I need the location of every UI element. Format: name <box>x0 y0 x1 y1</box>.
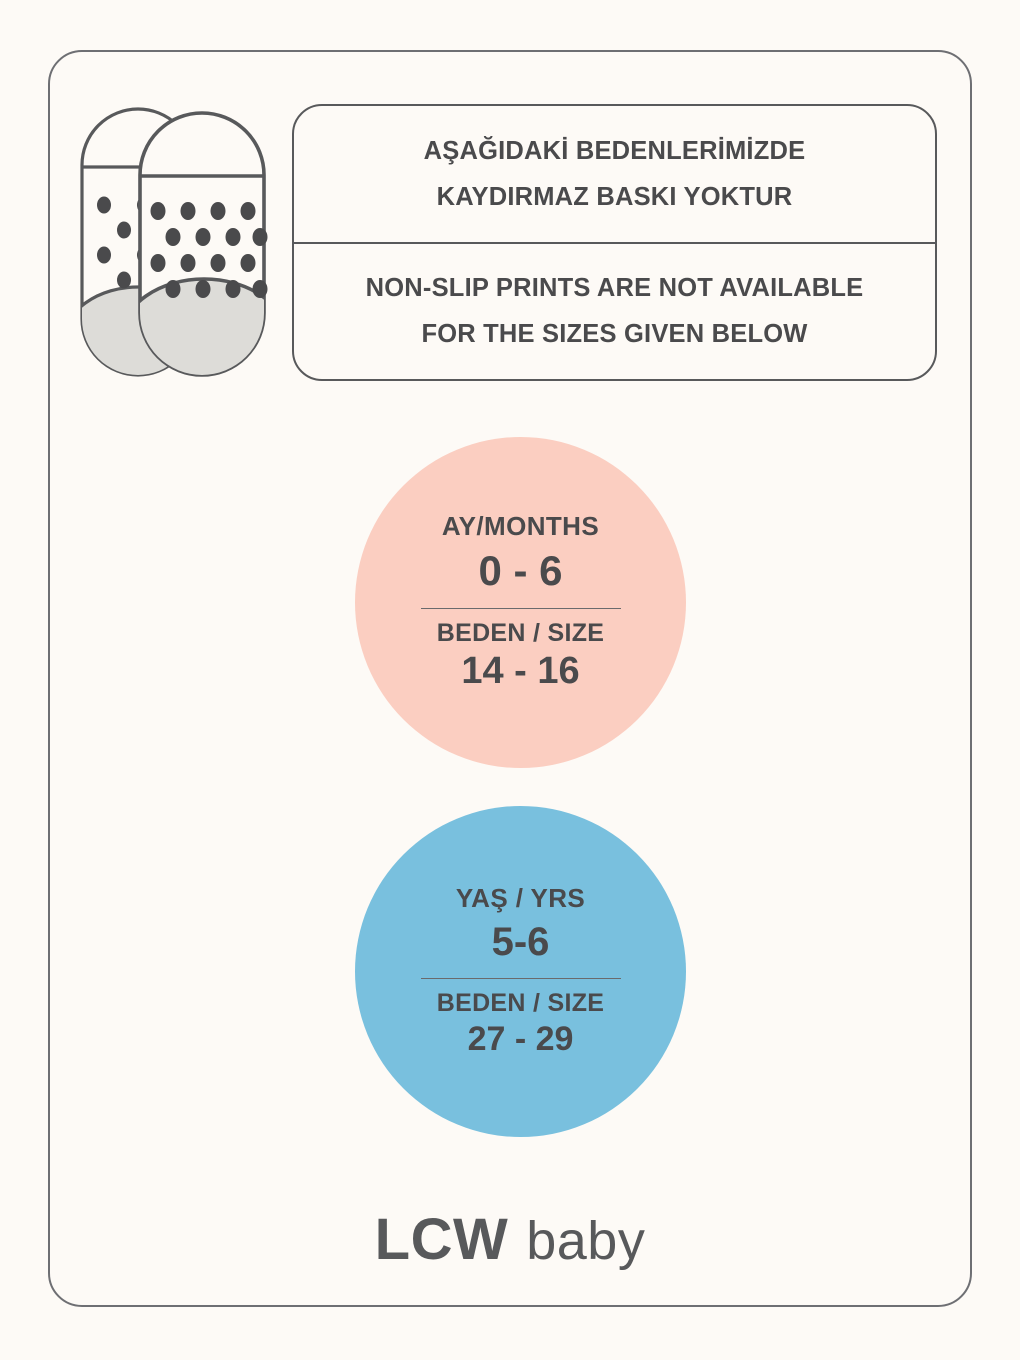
circle-divider <box>421 978 621 980</box>
brand-secondary: baby <box>526 1211 645 1271</box>
age-value: 0 - 6 <box>478 546 562 596</box>
notice-turkish-line-2: KAYDIRMAZ BASKI YOKTUR <box>437 174 793 220</box>
age-label: YAŞ / YRS <box>456 884 585 914</box>
notice-turkish: AŞAĞIDAKİ BEDENLERİMİZDE KAYDIRMAZ BASKI… <box>294 106 935 244</box>
size-label: BEDEN / SIZE <box>437 619 605 648</box>
size-circle-months-0-6: AY/MONTHS 0 - 6 BEDEN / SIZE 14 - 16 <box>355 437 686 768</box>
age-value: 5-6 <box>492 918 550 966</box>
notice-english: NON-SLIP PRINTS ARE NOT AVAILABLE FOR TH… <box>294 244 935 380</box>
size-value: 27 - 29 <box>468 1020 574 1059</box>
size-chart-page: AŞAĞIDAKİ BEDENLERİMİZDE KAYDIRMAZ BASKI… <box>0 0 1020 1360</box>
notice-english-line-1: NON-SLIP PRINTS ARE NOT AVAILABLE <box>366 265 864 311</box>
brand-primary: LCW <box>375 1207 509 1272</box>
notice-turkish-line-1: AŞAĞIDAKİ BEDENLERİMİZDE <box>424 128 806 174</box>
size-value: 14 - 16 <box>461 650 579 693</box>
notice-english-line-2: FOR THE SIZES GIVEN BELOW <box>421 311 807 357</box>
brand-logo: LCWbaby <box>0 1206 1020 1273</box>
non-slip-socks-icon <box>78 105 283 383</box>
size-circle-years-5-6: YAŞ / YRS 5-6 BEDEN / SIZE 27 - 29 <box>355 806 686 1137</box>
size-label: BEDEN / SIZE <box>437 989 605 1018</box>
sock-front-shape <box>122 113 283 383</box>
age-label: AY/MONTHS <box>442 512 599 542</box>
notice-box: AŞAĞIDAKİ BEDENLERİMİZDE KAYDIRMAZ BASKI… <box>292 104 937 381</box>
circle-divider <box>421 608 621 610</box>
